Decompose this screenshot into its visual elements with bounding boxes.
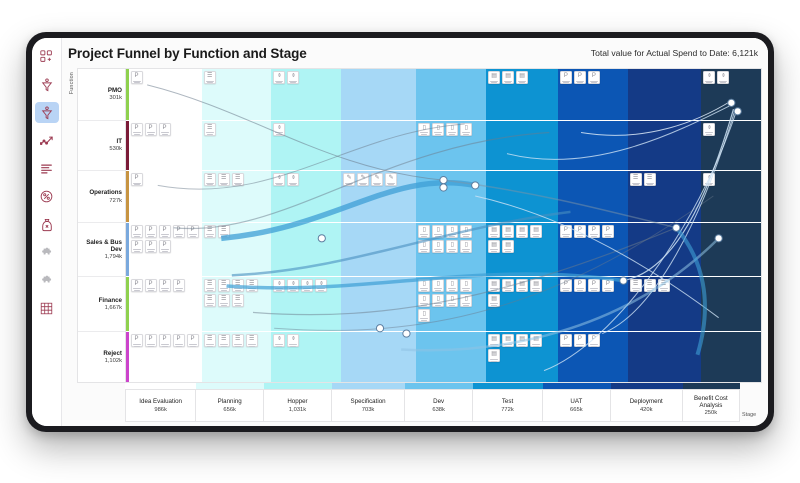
project-card[interactable]: ⌽ (273, 123, 285, 136)
project-card[interactable]: ▤ (516, 225, 528, 238)
project-card[interactable]: ▤ (488, 334, 500, 347)
project-card[interactable]: ▯ (460, 279, 472, 292)
project-card[interactable]: P (173, 225, 185, 238)
row-header-finance[interactable]: Finance1,667k (78, 277, 125, 333)
stage-column-hopper[interactable]: Hopper1,031k (264, 383, 332, 422)
grid-row: P☰☰☰⌽⌽✎✎✎✎☰☰⌽ (126, 171, 761, 223)
project-card[interactable]: ☰ (232, 173, 244, 186)
project-card[interactable]: P (145, 279, 157, 292)
card-sublabel-placeholder (388, 184, 394, 185)
card-sublabel-placeholder (162, 290, 168, 291)
grid-cell[interactable]: ▤▤▤ (486, 69, 558, 120)
card-label-placeholder (576, 344, 584, 345)
project-card[interactable]: ⌽ (717, 71, 729, 84)
project-card[interactable]: ▯ (460, 225, 472, 238)
card-sublabel-placeholder (463, 134, 469, 135)
stage-name: Idea Evaluation (139, 398, 182, 405)
card-sublabel-placeholder (505, 82, 511, 83)
stage-column-uat[interactable]: UAT665k (543, 383, 611, 422)
project-card[interactable]: P (159, 279, 171, 292)
grid-cell[interactable] (558, 121, 628, 171)
stage-column-specification[interactable]: Specification703k (332, 383, 405, 422)
grid-cell[interactable]: ▤▤▤▤▤▤ (486, 223, 558, 276)
grid-cell[interactable] (416, 171, 486, 222)
card-sublabel-placeholder (190, 346, 196, 347)
money-bag-icon[interactable] (35, 214, 59, 235)
add-dashboard-icon[interactable] (35, 46, 59, 67)
project-card[interactable]: ⌽ (287, 279, 299, 292)
project-card[interactable]: P (560, 334, 572, 347)
project-card[interactable]: P (159, 225, 171, 238)
card-glyph-icon: ☰ (221, 227, 226, 233)
project-card[interactable]: ▤ (530, 279, 542, 292)
grid-row: PPP☰⌽▯▯▯▯⌽ (126, 121, 761, 172)
project-card[interactable]: P (173, 279, 185, 292)
card-sublabel-placeholder (162, 134, 168, 135)
grid-cell[interactable]: ☰☰☰☰☰☰☰ (202, 277, 272, 332)
project-card[interactable]: ▯ (418, 309, 430, 322)
project-card[interactable]: ▯ (446, 123, 458, 136)
grid-cell[interactable]: ☰☰☰ (202, 171, 272, 222)
grid-cell[interactable] (486, 121, 558, 171)
project-card[interactable]: ▤ (502, 334, 514, 347)
project-card[interactable]: P (560, 71, 572, 84)
project-card[interactable]: P (574, 279, 586, 292)
grid-cell[interactable]: ☰☰☰☰ (202, 332, 272, 382)
project-card[interactable]: P (159, 240, 171, 253)
card-glyph-icon: P (578, 227, 582, 233)
card-sublabel-placeholder (435, 236, 441, 237)
project-card[interactable]: P (131, 334, 143, 347)
card-sublabel-placeholder (463, 251, 469, 252)
stage-label-box: Planning656k (196, 389, 264, 422)
card-label-placeholder (420, 132, 428, 133)
project-card[interactable]: ▯ (418, 240, 430, 253)
stage-column-idea-evaluation[interactable]: Idea Evaluation986k (125, 383, 196, 422)
grid-cell[interactable] (701, 332, 761, 382)
grid-row: PPPP☰☰☰☰☰☰☰⌽⌽⌽⌽▯▯▯▯▯▯▯▯▯▤▤▤▤▤PPPP☰☰☰ (126, 277, 761, 333)
project-card[interactable]: ✎ (385, 173, 397, 186)
card-label-placeholder (490, 359, 498, 360)
funnel-selected-icon[interactable] (35, 102, 59, 123)
grid-cell[interactable]: ⌽⌽⌽⌽ (271, 277, 341, 332)
grid-cell[interactable]: ☰☰ (202, 223, 272, 276)
grid-cell[interactable]: ✎✎✎✎ (341, 171, 416, 222)
card-glyph-icon: ▤ (505, 281, 511, 287)
project-card[interactable]: ⌽ (287, 71, 299, 84)
row-value: 530k (109, 146, 122, 152)
project-card[interactable]: ▤ (530, 334, 542, 347)
card-label-placeholder (420, 318, 428, 319)
project-card[interactable]: P (131, 123, 143, 136)
project-card[interactable]: ☰ (246, 279, 258, 292)
puzzle-icon-2[interactable] (35, 270, 59, 291)
project-card[interactable]: ▤ (516, 334, 528, 347)
stage-label-box: UAT665k (543, 389, 611, 422)
project-card[interactable]: P (173, 334, 185, 347)
card-glyph-icon: P (162, 125, 166, 131)
card-label-placeholder (248, 344, 256, 345)
project-card[interactable]: ▯ (432, 294, 444, 307)
stage-column-benefit-cost-analysis[interactable]: Benefit Cost Analysis250k (683, 383, 740, 422)
card-glyph-icon: ⌽ (320, 281, 324, 287)
grid-cell[interactable] (486, 171, 558, 222)
grid-cell[interactable]: ▤▤▤▤▤ (486, 277, 558, 332)
project-card[interactable]: ⌽ (273, 71, 285, 84)
grid-cell[interactable] (341, 69, 416, 120)
project-card[interactable]: ▯ (418, 294, 430, 307)
project-card[interactable]: ☰ (204, 294, 216, 307)
project-card[interactable]: ☰ (204, 173, 216, 186)
project-card[interactable]: ☰ (232, 294, 244, 307)
row-header-it[interactable]: IT530k (78, 121, 125, 172)
project-card[interactable]: P (145, 225, 157, 238)
card-sublabel-placeholder (421, 320, 427, 321)
grid-cell[interactable]: ▤▤▤▤▤ (486, 332, 558, 382)
grid-cell[interactable] (701, 223, 761, 276)
grid-cell[interactable] (341, 277, 416, 332)
card-sublabel-placeholder (505, 346, 511, 347)
project-card[interactable]: ▤ (530, 225, 542, 238)
project-card[interactable]: ▤ (488, 240, 500, 253)
project-card[interactable]: ⌽ (315, 279, 327, 292)
grid-cell[interactable] (341, 332, 416, 382)
project-card[interactable]: ▤ (488, 225, 500, 238)
card-glyph-icon: ▯ (437, 242, 440, 248)
grid-cell[interactable]: ⌽ (701, 121, 761, 171)
card-label-placeholder (147, 288, 155, 289)
project-card[interactable]: ☰ (204, 225, 216, 238)
card-sublabel-placeholder (221, 290, 227, 291)
card-glyph-icon: P (592, 336, 596, 342)
card-sublabel-placeholder (360, 184, 366, 185)
card-sublabel-placeholder (533, 290, 539, 291)
stage-column-planning[interactable]: Planning656k (196, 383, 264, 422)
table-grid-icon[interactable] (35, 298, 59, 319)
project-card[interactable]: ▯ (418, 225, 430, 238)
project-card[interactable]: P (131, 71, 143, 84)
grid-cell[interactable]: ☰ (202, 121, 272, 171)
card-sublabel-placeholder (591, 346, 597, 347)
grid-cell[interactable]: ⌽⌽ (701, 69, 761, 120)
card-glyph-icon: ☰ (207, 175, 212, 181)
project-card[interactable]: ▯ (460, 240, 472, 253)
card-glyph-icon: P (148, 281, 152, 287)
project-card[interactable]: ⌽ (287, 173, 299, 186)
card-sublabel-placeholder (176, 290, 182, 291)
card-label-placeholder (189, 344, 197, 345)
y-axis-title-text: Function (69, 72, 75, 94)
grid-cell[interactable] (341, 223, 416, 276)
row-label: IT (117, 138, 123, 145)
project-card[interactable]: ▯ (446, 240, 458, 253)
card-sublabel-placeholder (290, 290, 296, 291)
project-card[interactable]: ✎ (371, 173, 383, 186)
card-sublabel-placeholder (577, 346, 583, 347)
card-sublabel-placeholder (435, 251, 441, 252)
project-card[interactable]: P (574, 71, 586, 84)
project-card[interactable]: ▯ (418, 279, 430, 292)
card-label-placeholder (490, 303, 498, 304)
project-card[interactable]: ▯ (418, 123, 430, 136)
project-card[interactable]: P (602, 225, 614, 238)
card-sublabel-placeholder (505, 236, 511, 237)
project-card[interactable]: ▤ (502, 279, 514, 292)
project-card[interactable]: ☰ (218, 225, 230, 238)
project-card[interactable]: ⌽ (703, 123, 715, 136)
card-sublabel-placeholder (533, 236, 539, 237)
card-sublabel-placeholder (176, 346, 182, 347)
project-card[interactable]: P (131, 173, 143, 186)
project-card[interactable]: ⌽ (703, 173, 715, 186)
project-card[interactable]: ▤ (488, 279, 500, 292)
project-card[interactable]: P (145, 334, 157, 347)
project-card[interactable]: P (187, 225, 199, 238)
project-card[interactable]: ▤ (488, 294, 500, 307)
grid-cell[interactable]: ☰ (202, 69, 272, 120)
card-label-placeholder (317, 288, 325, 289)
project-card[interactable]: P (159, 334, 171, 347)
project-card[interactable]: P (131, 225, 143, 238)
card-glyph-icon: ▯ (437, 125, 440, 131)
puzzle-icon-1[interactable] (35, 242, 59, 263)
card-sublabel-placeholder (134, 184, 140, 185)
stage-column-test[interactable]: Test772k (473, 383, 543, 422)
row-header-sales-bus-dev[interactable]: Sales & Bus Dev1,794k (78, 223, 125, 277)
card-glyph-icon: ▤ (519, 281, 525, 287)
card-sublabel-placeholder (591, 236, 597, 237)
project-card[interactable]: ▯ (460, 294, 472, 307)
card-glyph-icon: ☰ (221, 336, 226, 342)
project-card[interactable]: ☰ (218, 279, 230, 292)
card-label-placeholder (490, 344, 498, 345)
card-sublabel-placeholder (505, 251, 511, 252)
row-label: Reject (103, 350, 122, 357)
project-card[interactable]: ▤ (516, 71, 528, 84)
project-card[interactable]: ⌽ (273, 279, 285, 292)
grid-cell[interactable]: P (129, 171, 202, 222)
card-sublabel-placeholder (647, 290, 653, 291)
project-card[interactable]: ☰ (630, 279, 642, 292)
stage-value: 1,031k (289, 407, 306, 413)
project-card[interactable]: ▯ (446, 294, 458, 307)
project-card[interactable]: ⌽ (287, 334, 299, 347)
line-chart-icon[interactable] (35, 130, 59, 151)
project-card[interactable]: P (602, 279, 614, 292)
grid-cell[interactable]: P (129, 69, 202, 120)
grid-cell[interactable] (416, 332, 486, 382)
card-glyph-icon: P (564, 73, 568, 79)
total-spend-label: Total value for Actual Spend to Date: 6,… (591, 48, 758, 58)
project-card[interactable]: ☰ (204, 279, 216, 292)
card-sublabel-placeholder (605, 236, 611, 237)
project-card[interactable]: ☰ (232, 334, 244, 347)
project-card[interactable]: P (588, 71, 600, 84)
project-card[interactable]: ⌽ (273, 173, 285, 186)
project-card[interactable]: ☰ (658, 279, 670, 292)
project-card[interactable]: ☰ (246, 334, 258, 347)
project-card[interactable]: P (560, 225, 572, 238)
card-glyph-icon: P (564, 227, 568, 233)
card-glyph-icon: ▤ (519, 336, 525, 342)
funnel-icon[interactable] (35, 74, 59, 95)
card-label-placeholder (448, 288, 456, 289)
project-card[interactable]: ▤ (502, 71, 514, 84)
percent-icon[interactable] (35, 186, 59, 207)
card-label-placeholder (518, 344, 526, 345)
card-glyph-icon: P (162, 242, 166, 248)
project-card[interactable]: ▯ (432, 240, 444, 253)
grid-cell[interactable]: ⌽⌽ (271, 171, 341, 222)
project-card[interactable]: P (131, 240, 143, 253)
x-axis-title-text: Stage (742, 412, 756, 418)
card-glyph-icon: ▤ (519, 227, 525, 233)
project-card[interactable]: ▤ (488, 71, 500, 84)
project-card[interactable]: ☰ (204, 71, 216, 84)
stage-column-deployment[interactable]: Deployment420k (611, 383, 683, 422)
grid-cell[interactable]: PPP (558, 332, 628, 382)
card-sublabel-placeholder (491, 361, 497, 362)
card-label-placeholder (133, 132, 141, 133)
grid-cell[interactable]: ⌽ (701, 171, 761, 222)
project-card[interactable]: P (131, 279, 143, 292)
project-card[interactable]: ▯ (460, 123, 472, 136)
project-card[interactable]: ▤ (502, 225, 514, 238)
card-glyph-icon: ▤ (519, 73, 525, 79)
project-card[interactable]: ⌽ (703, 71, 715, 84)
project-card[interactable]: P (187, 334, 199, 347)
row-label: Operations (89, 189, 122, 196)
project-card[interactable]: ☰ (218, 334, 230, 347)
grid-cell[interactable]: PPPPP (129, 332, 202, 382)
card-glyph-icon: ▯ (451, 227, 454, 233)
project-card[interactable]: P (588, 334, 600, 347)
card-sublabel-placeholder (318, 290, 324, 291)
grid-cell[interactable] (341, 121, 416, 171)
grid-cell[interactable] (628, 332, 702, 382)
project-card[interactable]: P (588, 225, 600, 238)
grid-cell[interactable] (701, 277, 761, 332)
grid-row: P☰⌽⌽▤▤▤PPP⌽⌽ (126, 69, 761, 121)
card-label-placeholder (248, 288, 256, 289)
project-card[interactable]: P (145, 123, 157, 136)
project-card[interactable]: P (588, 279, 600, 292)
row-header-pmo[interactable]: PMO301k (78, 69, 125, 121)
bar-list-icon[interactable] (35, 158, 59, 179)
project-card[interactable]: ☰ (218, 173, 230, 186)
card-glyph-icon: ▤ (491, 227, 497, 233)
card-sublabel-placeholder (421, 134, 427, 135)
grid-cell[interactable]: ☰☰☰ (628, 277, 702, 332)
grid-cell[interactable] (416, 69, 486, 120)
project-card[interactable]: ✎ (343, 173, 355, 186)
grid-cell[interactable]: PPP (129, 121, 202, 171)
project-card[interactable]: ▯ (446, 279, 458, 292)
grid-cell[interactable]: PPPP (558, 223, 628, 276)
row-label: Finance (99, 297, 122, 304)
project-card[interactable]: ▤ (502, 240, 514, 253)
project-card[interactable]: P (145, 240, 157, 253)
card-label-placeholder (448, 303, 456, 304)
project-card[interactable]: ☰ (232, 279, 244, 292)
grid-cell[interactable]: PPPPPPPP (129, 223, 202, 276)
card-sublabel-placeholder (249, 346, 255, 347)
grid-cell[interactable]: ⌽ (271, 121, 341, 171)
grid-cell[interactable] (558, 171, 628, 222)
grid-cell[interactable]: ⌽⌽ (271, 332, 341, 382)
grid-cell[interactable] (628, 121, 702, 171)
card-glyph-icon: ⌽ (278, 125, 282, 131)
grid-cell[interactable] (628, 69, 702, 120)
project-card[interactable]: ▯ (446, 225, 458, 238)
project-card[interactable]: P (574, 225, 586, 238)
project-card[interactable]: ☰ (644, 173, 656, 186)
project-card[interactable]: ✎ (357, 173, 369, 186)
card-sublabel-placeholder (207, 305, 213, 306)
grid-cell[interactable] (628, 223, 702, 276)
project-card[interactable]: ▯ (432, 123, 444, 136)
grid-cell[interactable] (271, 223, 341, 276)
card-sublabel-placeholder (176, 236, 182, 237)
grid-cell[interactable]: ▯▯▯▯▯▯▯▯▯ (416, 277, 486, 332)
card-glyph-icon: ▤ (505, 242, 511, 248)
row-header-operations[interactable]: Operations727k (78, 171, 125, 223)
grid-cell[interactable]: ☰☰ (628, 171, 702, 222)
project-card[interactable]: ▯ (432, 225, 444, 238)
project-card[interactable]: ☰ (204, 123, 216, 136)
project-card[interactable]: ▤ (516, 279, 528, 292)
card-glyph-icon: P (564, 336, 568, 342)
grid-cell[interactable]: ▯▯▯▯▯▯▯▯ (416, 223, 486, 276)
stage-column-dev[interactable]: Dev638k (405, 383, 473, 422)
stage-name: Specification (351, 398, 386, 405)
card-sublabel-placeholder (577, 82, 583, 83)
card-glyph-icon: ⌽ (708, 73, 712, 79)
grid-cell[interactable]: PPPP (129, 277, 202, 332)
card-label-placeholder (462, 303, 470, 304)
card-sublabel-placeholder (290, 346, 296, 347)
project-card[interactable]: ⌽ (301, 279, 313, 292)
project-card[interactable]: ☰ (630, 173, 642, 186)
card-glyph-icon: ⌽ (292, 281, 296, 287)
card-glyph-icon: ▯ (423, 242, 426, 248)
card-label-placeholder (518, 288, 526, 289)
card-label-placeholder (161, 132, 169, 133)
stage-label-box: Benefit Cost Analysis250k (683, 389, 740, 422)
grid-cell[interactable]: PPP (558, 69, 628, 120)
project-card[interactable]: ▯ (432, 279, 444, 292)
card-label-placeholder (420, 303, 428, 304)
project-card[interactable]: ⌽ (273, 334, 285, 347)
card-sublabel-placeholder (519, 236, 525, 237)
card-label-placeholder (660, 288, 668, 289)
project-card[interactable]: ☰ (218, 294, 230, 307)
row-header-reject[interactable]: Reject1,102k (78, 332, 125, 382)
card-label-placeholder (161, 288, 169, 289)
project-card[interactable]: P (159, 123, 171, 136)
card-label-placeholder (590, 344, 598, 345)
card-label-placeholder (147, 132, 155, 133)
project-card[interactable]: P (574, 334, 586, 347)
project-card[interactable]: ▤ (488, 349, 500, 362)
project-card[interactable]: ☰ (644, 279, 656, 292)
grid-cell[interactable]: ⌽⌽ (271, 69, 341, 120)
grid-cell[interactable]: ▯▯▯▯ (416, 121, 486, 171)
project-card[interactable]: P (560, 279, 572, 292)
grid-cell[interactable]: PPPP (558, 277, 628, 332)
project-card[interactable]: ☰ (204, 334, 216, 347)
card-glyph-icon: P (134, 125, 138, 131)
